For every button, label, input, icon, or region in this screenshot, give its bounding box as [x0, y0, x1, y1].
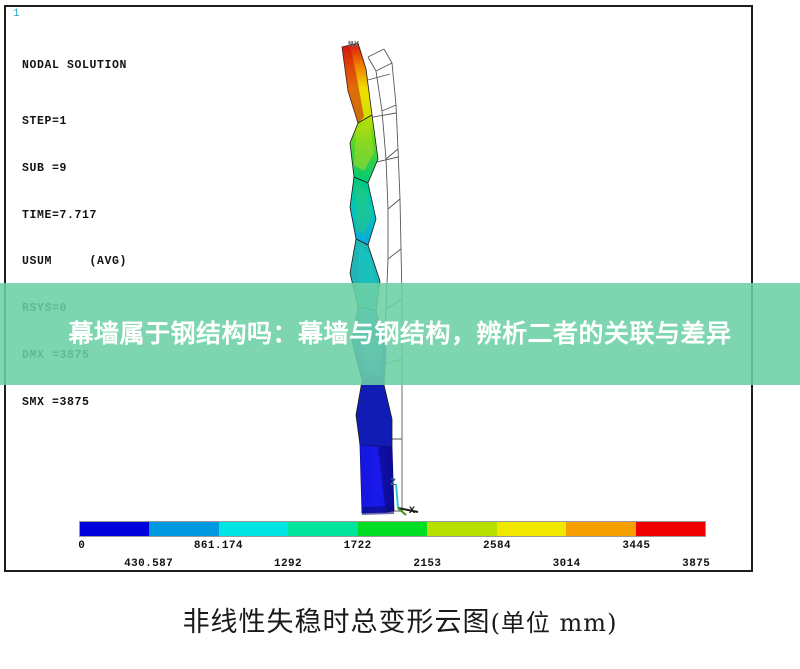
colorbar-tick-1: 430.587: [124, 558, 173, 570]
contour-body: [342, 43, 394, 515]
colorbar-tick-3: 1292: [274, 558, 302, 570]
article-title-banner: 幕墙属于钢结构吗：幕墙与钢结构，辨析二者的关联与差异: [0, 283, 800, 385]
solution-line-smx: SMX =3875: [22, 395, 127, 411]
contour-colorbar-wrap: [75, 516, 711, 542]
triad-z-label: Z: [390, 478, 396, 489]
colorbar-tick-9: 3875: [682, 558, 710, 570]
contour-colorbar: [79, 521, 706, 537]
colorbar-band-7: [566, 522, 635, 536]
colorbar-band-4: [358, 522, 427, 536]
article-title-text: 幕墙属于钢结构吗：幕墙与钢结构，辨析二者的关联与差异: [68, 316, 731, 352]
window-index-label: 1: [13, 9, 20, 20]
colorbar-tick-2: 861.174: [194, 540, 243, 552]
colorbar-tick-8: 3445: [622, 540, 650, 552]
colorbar-tick-6: 2584: [483, 540, 511, 552]
colorbar-tick-5: 2153: [413, 558, 441, 570]
colorbar-tick-0: 0: [78, 540, 85, 552]
solution-line-step: STEP=1: [22, 114, 127, 130]
colorbar-band-5: [427, 522, 496, 536]
caption-main-text: 非线性失稳时总变形云图: [183, 607, 491, 638]
caption-unit-text: (单位 mm): [491, 609, 618, 637]
figure-caption: 非线性失稳时总变形云图(单位 mm): [0, 600, 800, 639]
deformed-shape-svg: [306, 19, 496, 519]
deformed-model-plot: MX Z X: [306, 19, 496, 519]
colorbar-band-1: [149, 522, 218, 536]
colorbar-tick-row-lower: 430.5871292215330143875: [6, 558, 753, 572]
colorbar-tick-7: 3014: [553, 558, 581, 570]
solution-line-sub: SUB =9: [22, 161, 127, 177]
colorbar-tick-4: 1722: [344, 540, 372, 552]
colorbar-tick-row-upper: 0861.174172225843445: [6, 540, 753, 556]
solution-line-usum: USUM (AVG): [22, 254, 127, 270]
solution-line-time: TIME=7.717: [22, 208, 127, 224]
colorbar-band-2: [219, 522, 288, 536]
colorbar-band-6: [497, 522, 566, 536]
max-location-label: MX: [348, 40, 360, 50]
colorbar-band-0: [80, 522, 149, 536]
colorbar-band-3: [288, 522, 357, 536]
colorbar-band-8: [636, 522, 705, 536]
solution-title: NODAL SOLUTION: [22, 58, 127, 74]
